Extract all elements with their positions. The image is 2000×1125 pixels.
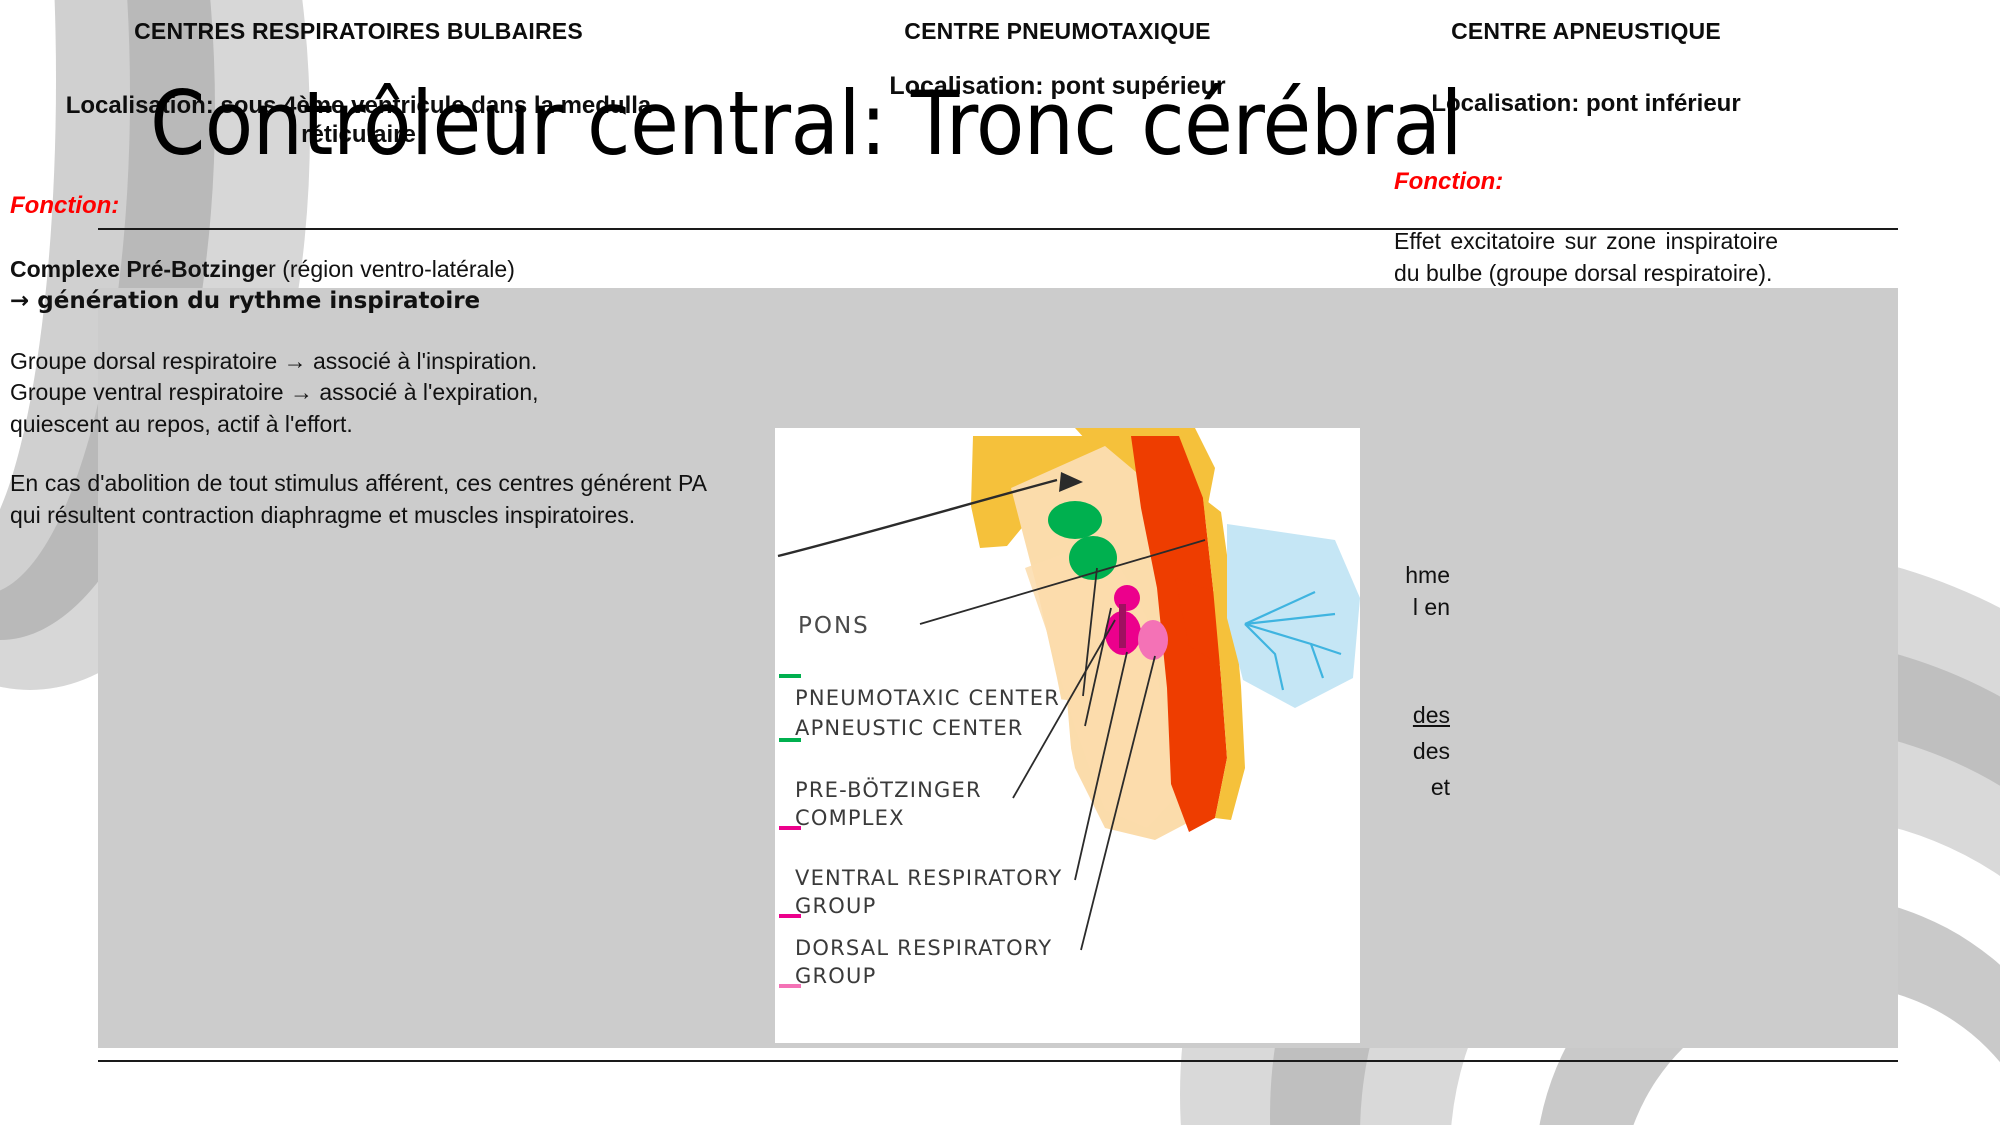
column-3-heading: CENTRE APNEUSTIQUE [1394,18,1778,45]
figure-label-dorsal-respiratory: DORSAL RESPIRATORY [795,936,1052,960]
figure-label-pre-botzinger-complex: COMPLEX [795,806,905,830]
slide-title: Contrôleur central: Tronc cérébral [150,78,1462,170]
figure-label-ventral-respiratory: VENTRAL RESPIRATORY [795,866,1062,890]
magenta-stalk [1119,604,1126,648]
column-1-heading: CENTRES RESPIRATOIRES BULBAIRES [10,18,707,45]
column-1-groupe-dorsal: Groupe dorsal respiratoire → associé à l… [10,346,707,378]
figure-label-apneustic-center: APNEUSTIC CENTER [795,716,1024,740]
column-1-fonction-label: Fonction: [10,192,707,220]
column-1-abolition-stimulus: En cas d'abolition de tout stimulus affé… [10,468,707,531]
magenta-marker-small [1114,585,1140,611]
column-1-generation-rythme: → génération du rythme inspiratoire [10,285,707,318]
prebotzinger-bold: Complexe Pré-Botzinge [10,256,268,282]
figure-label-pons: PONS [798,613,870,639]
green-marker-upper [1048,501,1102,539]
column-1-groupe-ventral: Groupe ventral respiratoire → associé à … [10,377,707,409]
column-1-groupe-ventral-suite: quiescent au repos, actif à l'effort. [10,409,707,441]
legend-key-green-1 [779,674,801,678]
column-2-heading: CENTRE PNEUMOTAXIQUE [749,18,1366,45]
figure-label-pneumotaxic-center: PNEUMOTAXIC CENTER [795,686,1060,710]
title-divider [98,228,1898,230]
column-1-prebotzinger-line: Complexe Pré-Botzinger (région ventro-la… [10,254,707,286]
figure-label-pre-botzinger: PRE-BÖTZINGER [795,778,982,802]
figure-label-ventral-respiratory-group: GROUP [795,894,876,918]
pink-marker [1138,620,1168,660]
figure-label-dorsal-respiratory-group: GROUP [795,964,876,988]
generation-rythme-text: → génération du rythme inspiratoire [10,288,480,314]
prebotzinger-rest: r (région ventro-latérale) [268,256,515,282]
brainstem-diagram-image: PONS PNEUMOTAXIC CENTER APNEUSTIC CENTER… [775,428,1360,1043]
column-3-effet-excitatoire: Effet excitatoire sur zone inspiratoire … [1394,226,1778,289]
bottom-divider [98,1060,1898,1062]
